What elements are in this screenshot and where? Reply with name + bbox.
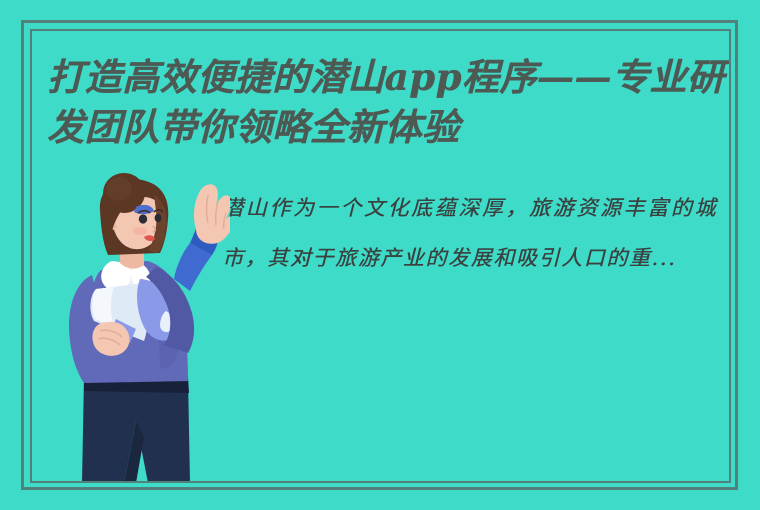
- eye-right: [155, 214, 162, 222]
- poster-content: 打造高效便捷的潜山app程序——专业研发团队带你领略全新体验 潜山作为一个文化底…: [32, 31, 729, 481]
- head-shape: [100, 173, 168, 255]
- body-paragraph: 潜山作为一个文化底蕴深厚，旅游资源丰富的城市，其对于旅游产业的发展和吸引人口的重…: [222, 183, 717, 283]
- page-title: 打造高效便捷的潜山app程序——专业研发团队带你领略全新体验: [47, 52, 729, 152]
- skirt-shape: [82, 377, 190, 481]
- eye-left: [139, 214, 147, 223]
- raised-hand-shape: [194, 184, 230, 244]
- woman-with-megaphone-illustration: [40, 171, 230, 481]
- poster-canvas: 打造高效便捷的潜山app程序——专业研发团队带你领略全新体验 潜山作为一个文化底…: [0, 0, 760, 510]
